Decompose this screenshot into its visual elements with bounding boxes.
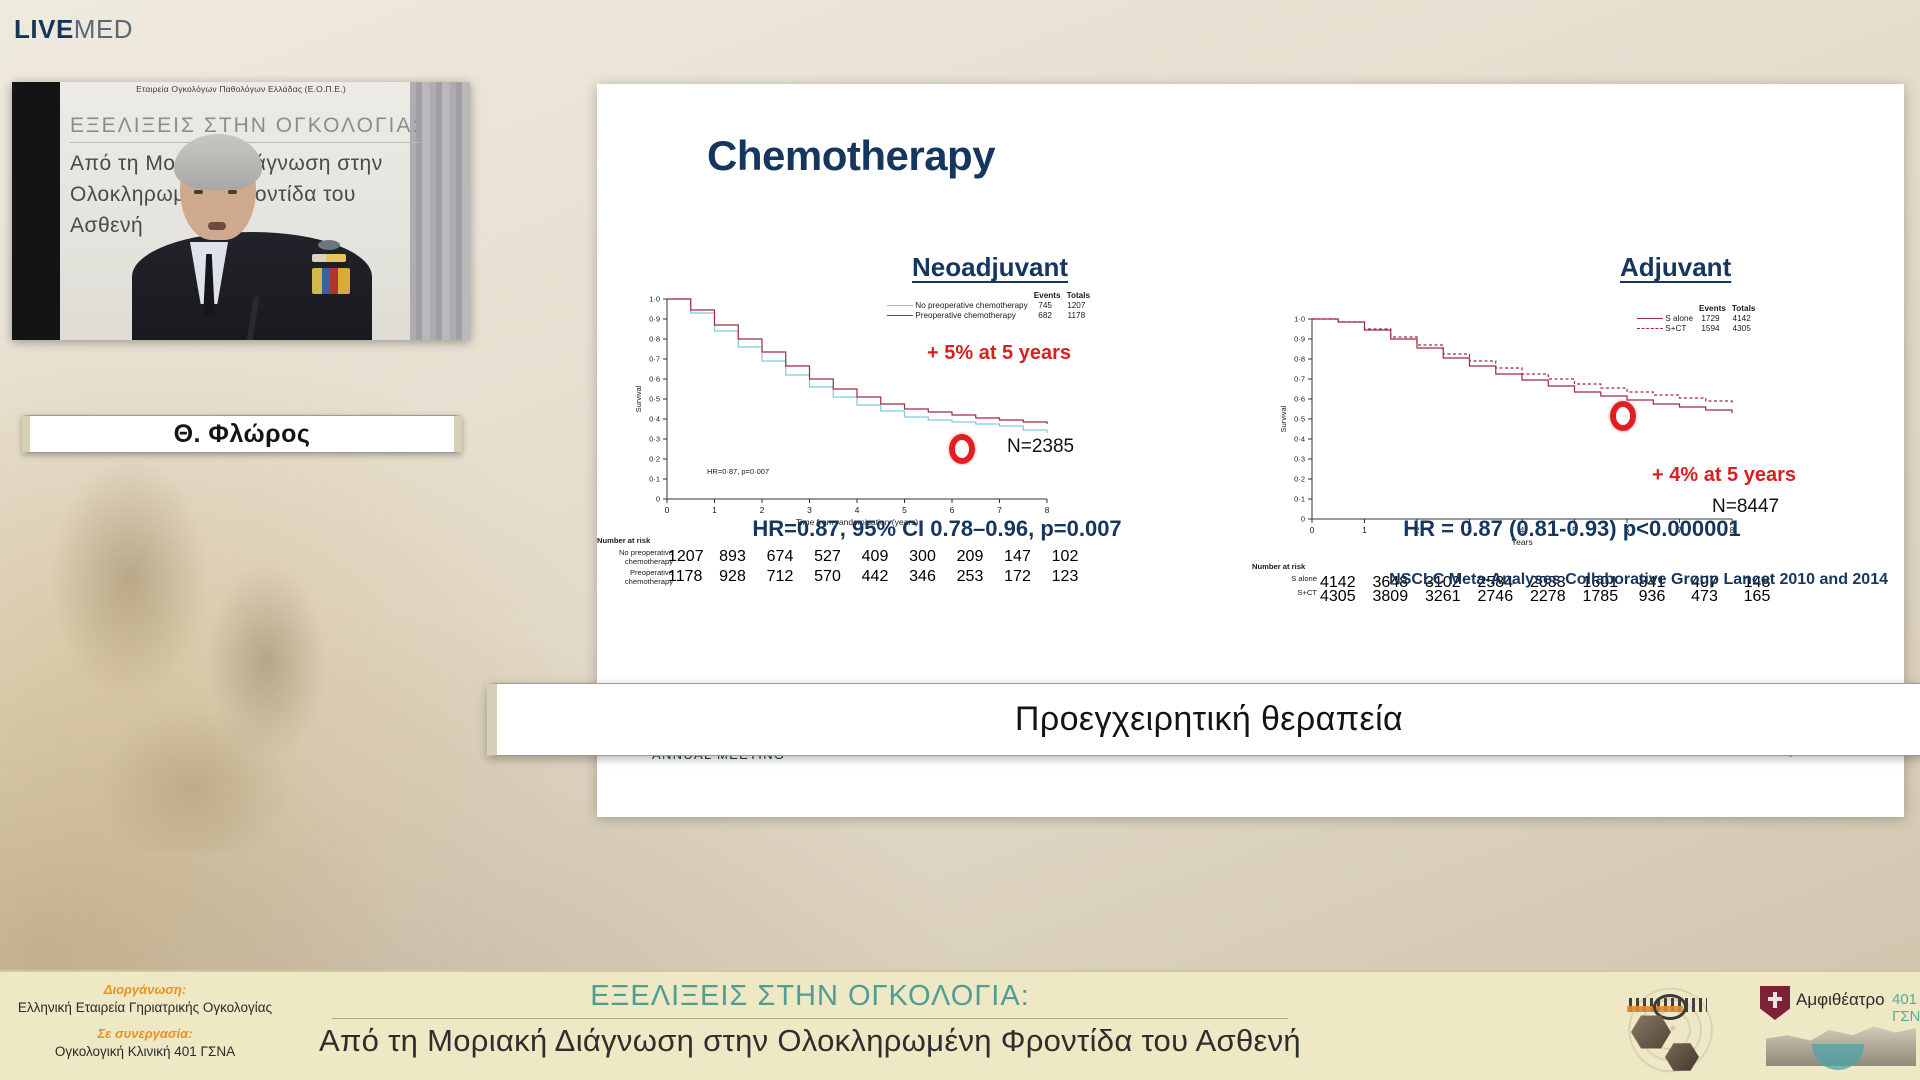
number-at-risk-value: 409 [858, 548, 892, 566]
venue-photo-accent [1812, 1044, 1864, 1070]
svg-text:1·0: 1·0 [649, 295, 660, 304]
panel-heading-adjuvant: Adjuvant [1620, 252, 1731, 283]
brand-live: LIVE [14, 14, 74, 44]
footer-title-line1: ΕΞΕΛΙΞΕΙΣ ΣΤΗΝ ΟΓΚΟΛΟΓΙΑ: [310, 980, 1310, 1013]
video-slide-title-line1: ΕΞΕΛΙΞΕΙΣ ΣΤΗΝ ΟΓΚΟΛΟΓΙΑ: [70, 114, 420, 138]
legend-header-events: Events [1699, 304, 1732, 314]
number-at-risk-value: 253 [953, 568, 987, 586]
legend-totals-value: 1178 [1067, 311, 1097, 321]
number-at-risk-value: 209 [953, 548, 987, 566]
number-at-risk-row-label: No preoperative chemotherapy [595, 548, 673, 566]
annotation-adj-benefit: + 4% at 5 years [1652, 464, 1796, 487]
highlight-circle-neo [949, 434, 975, 464]
number-at-risk-value: 473 [1688, 588, 1722, 606]
legend-header-totals: Totals [1067, 291, 1097, 301]
hr-statement-adjuvant: HR = 0.87 (0.81-0.93) p<0.000001 [1247, 516, 1897, 542]
number-at-risk-value: 346 [906, 568, 940, 586]
footer-event-title: ΕΞΕΛΙΞΕΙΣ ΣΤΗΝ ΟΓΚΟΛΟΓΙΑ: Από τη Μοριακή… [310, 980, 1310, 1059]
svg-text:1·0: 1·0 [1294, 315, 1305, 324]
chart-neoadjuvant-svg: 00·10·20·30·40·50·60·70·80·91·0012345678… [597, 289, 1237, 549]
collaboration-label: Σε συνεργασία: [0, 1026, 290, 1041]
number-at-risk-value: 527 [811, 548, 845, 566]
speaker-name: Θ. Φλώρος [174, 420, 311, 449]
number-at-risk-value: 936 [1635, 588, 1669, 606]
number-at-risk-value: 1207 [668, 548, 702, 566]
number-at-risk-value: 1178 [668, 568, 702, 586]
collaboration-value: Ογκολογική Κλινική 401 ΓΣΝΑ [0, 1044, 290, 1059]
legend-row: No preoperative chemotherapy7451207 [887, 301, 1096, 311]
number-at-risk-value: 442 [858, 568, 892, 586]
svg-text:8: 8 [1045, 505, 1050, 515]
speaker-ribbon-bar-top [312, 254, 346, 262]
event-footer: Διοργάνωση: Ελληνική Εταιρεία Γηριατρική… [0, 970, 1920, 1080]
svg-text:0·6: 0·6 [649, 375, 660, 384]
svg-text:3: 3 [807, 505, 812, 515]
legend-line-swatch [887, 305, 913, 306]
svg-text:5: 5 [902, 505, 907, 515]
cross-icon-horizontal [1768, 997, 1782, 1001]
speaker-badge-pin [318, 240, 340, 250]
livemed-logo: LIVEMED [14, 14, 133, 45]
slide-title: Chemotherapy [707, 132, 995, 180]
legend-header-totals: Totals [1732, 304, 1762, 314]
brand-med: MED [74, 14, 133, 44]
legend-events-value: 1729 [1699, 314, 1732, 324]
speaker-video[interactable]: Εταιρεία Ογκολόγων Παθολόγων Ελλάδας (Ε.… [12, 82, 470, 340]
hexagon-photo-b [1665, 1042, 1699, 1072]
legend-line-swatch [1637, 318, 1663, 319]
svg-text:0·4: 0·4 [649, 415, 660, 424]
legend-adjuvant: EventsTotals S alone17294142 S+CT1594430… [1637, 304, 1761, 334]
number-at-risk-value: 893 [716, 548, 750, 566]
svg-text:0: 0 [665, 505, 670, 515]
highlight-circle-adj [1610, 401, 1636, 431]
svg-text:7: 7 [997, 505, 1002, 515]
legend-row: S alone17294142 [1637, 314, 1761, 324]
number-at-risk-value: 674 [763, 548, 797, 566]
svg-text:0·4: 0·4 [1294, 435, 1305, 444]
hr-statement-neoadjuvant: HR=0.87, 95% CI 0.78–0.96, p=0.007 [617, 516, 1257, 542]
speaker-eye-left [194, 190, 203, 194]
svg-text:0·1: 0·1 [1294, 495, 1305, 504]
svg-text:0·7: 0·7 [649, 355, 660, 364]
speaker-mouth [208, 222, 226, 230]
venue-suffix: 401 ΓΣΝΑ [1892, 991, 1920, 1025]
organizer-value: Ελληνική Εταιρεία Γηριατρικής Ογκολογίας [0, 1000, 290, 1015]
number-at-risk-value: 712 [763, 568, 797, 586]
shield-icon [1760, 986, 1790, 1020]
legend-events-value: 682 [1034, 311, 1067, 321]
background-artwork [0, 430, 430, 850]
organizer-label: Διοργάνωση: [0, 982, 290, 997]
number-at-risk-value: 172 [1001, 568, 1035, 586]
number-at-risk-row-label: S+CT [1247, 588, 1317, 597]
svg-text:0·7: 0·7 [1294, 375, 1305, 384]
legend-line-swatch [887, 315, 913, 316]
svg-text:0·2: 0·2 [649, 455, 660, 464]
svg-text:0·3: 0·3 [1294, 455, 1305, 464]
legend-neoadjuvant: EventsTotals No preoperative chemotherap… [887, 291, 1096, 321]
svg-text:0·9: 0·9 [1294, 335, 1305, 344]
number-at-risk-value: 2278 [1530, 588, 1564, 606]
legend-series-name: No preoperative chemotherapy [913, 301, 1028, 310]
annotation-neo-hr-inline: HR=0·87, p=0·007 [707, 467, 769, 476]
svg-text:0·5: 0·5 [1294, 415, 1305, 424]
number-at-risk-value: 147 [1001, 548, 1035, 566]
legend-row: S+CT15944305 [1637, 324, 1761, 334]
legend-blank [887, 291, 1034, 301]
legend-totals-value: 4305 [1732, 324, 1762, 334]
svg-text:0·6: 0·6 [1294, 395, 1305, 404]
svg-text:0·2: 0·2 [1294, 475, 1305, 484]
number-at-risk-row-label: S alone [1247, 574, 1317, 583]
legend-events-value: 1594 [1699, 324, 1732, 334]
caption-bar: Προεγχειρητική θεραπεία [487, 683, 1920, 756]
svg-text:6: 6 [950, 505, 955, 515]
footer-title-line2: Από τη Μοριακή Διάγνωση στην Ολοκληρωμέν… [310, 1023, 1310, 1059]
legend-totals-value: 1207 [1067, 301, 1097, 311]
number-at-risk-value: 4305 [1320, 588, 1354, 606]
number-at-risk-value: 102 [1048, 548, 1082, 566]
annotation-neo-benefit: + 5% at 5 years [927, 342, 1071, 365]
svg-text:0·8: 0·8 [1294, 355, 1305, 364]
footer-title-divider [332, 1018, 1288, 1019]
svg-text:4: 4 [855, 505, 860, 515]
number-at-risk-value: 3261 [1425, 588, 1459, 606]
footer-organizers: Διοργάνωση: Ελληνική Εταιρεία Γηριατρική… [0, 982, 290, 1059]
source-citation: NSCLC Meta-Analyses Collaborative Group … [1389, 571, 1888, 589]
panel-heading-neoadjuvant: Neoadjuvant [912, 252, 1068, 283]
venue-name: Αμφιθέατρο [1796, 990, 1885, 1010]
svg-text:0·1: 0·1 [649, 475, 660, 484]
number-at-risk-value: 570 [811, 568, 845, 586]
speaker-name-plate: Θ. Φλώρος [22, 415, 462, 453]
legend-header-events: Events [1034, 291, 1067, 301]
svg-text:Survival: Survival [634, 385, 643, 412]
speaker-ribbon-bar [312, 268, 350, 294]
number-at-risk-value: 165 [1740, 588, 1774, 606]
number-at-risk-label: Number at risk [1252, 562, 1305, 571]
number-at-risk-value: 3809 [1373, 588, 1407, 606]
svg-text:1: 1 [712, 505, 717, 515]
number-at-risk-value: 123 [1048, 568, 1082, 586]
svg-text:0·3: 0·3 [649, 435, 660, 444]
video-left-edge [12, 82, 60, 340]
legend-events-value: 745 [1034, 301, 1067, 311]
video-slide-society: Εταιρεία Ογκολόγων Παθολόγων Ελλάδας (Ε.… [48, 84, 434, 94]
legend-line-swatch [1637, 328, 1663, 329]
number-at-risk-value: 300 [906, 548, 940, 566]
legend-row: Preoperative chemotherapy6821178 [887, 311, 1096, 321]
legend-blank [1637, 304, 1699, 314]
legend-series-name: S+CT [1663, 324, 1686, 333]
annotation-neo-sample: N=2385 [1007, 436, 1074, 458]
footer-decorative-artwork [1625, 978, 1745, 1078]
number-at-risk-value: 2746 [1478, 588, 1512, 606]
svg-text:0: 0 [656, 495, 660, 504]
svg-text:0·9: 0·9 [649, 315, 660, 324]
svg-text:0·8: 0·8 [649, 335, 660, 344]
number-at-risk-value: 928 [716, 568, 750, 586]
caption-text: Προεγχειρητική θεραπεία [1015, 700, 1403, 739]
legend-series-name: Preoperative chemotherapy [913, 311, 1016, 320]
annotation-adj-sample: N=8447 [1712, 496, 1779, 518]
legend-series-name: S alone [1663, 314, 1693, 323]
number-at-risk-value: 1785 [1583, 588, 1617, 606]
chart-neoadjuvant: 00·10·20·30·40·50·60·70·80·91·0012345678… [597, 289, 1237, 549]
svg-text:Survival: Survival [1279, 405, 1288, 432]
legend-totals-value: 4142 [1732, 314, 1762, 324]
svg-text:0·5: 0·5 [649, 395, 660, 404]
svg-text:2: 2 [760, 505, 765, 515]
number-at-risk-row-label: Preoperative chemotherapy [595, 568, 673, 586]
speaker-eye-right [228, 190, 237, 194]
